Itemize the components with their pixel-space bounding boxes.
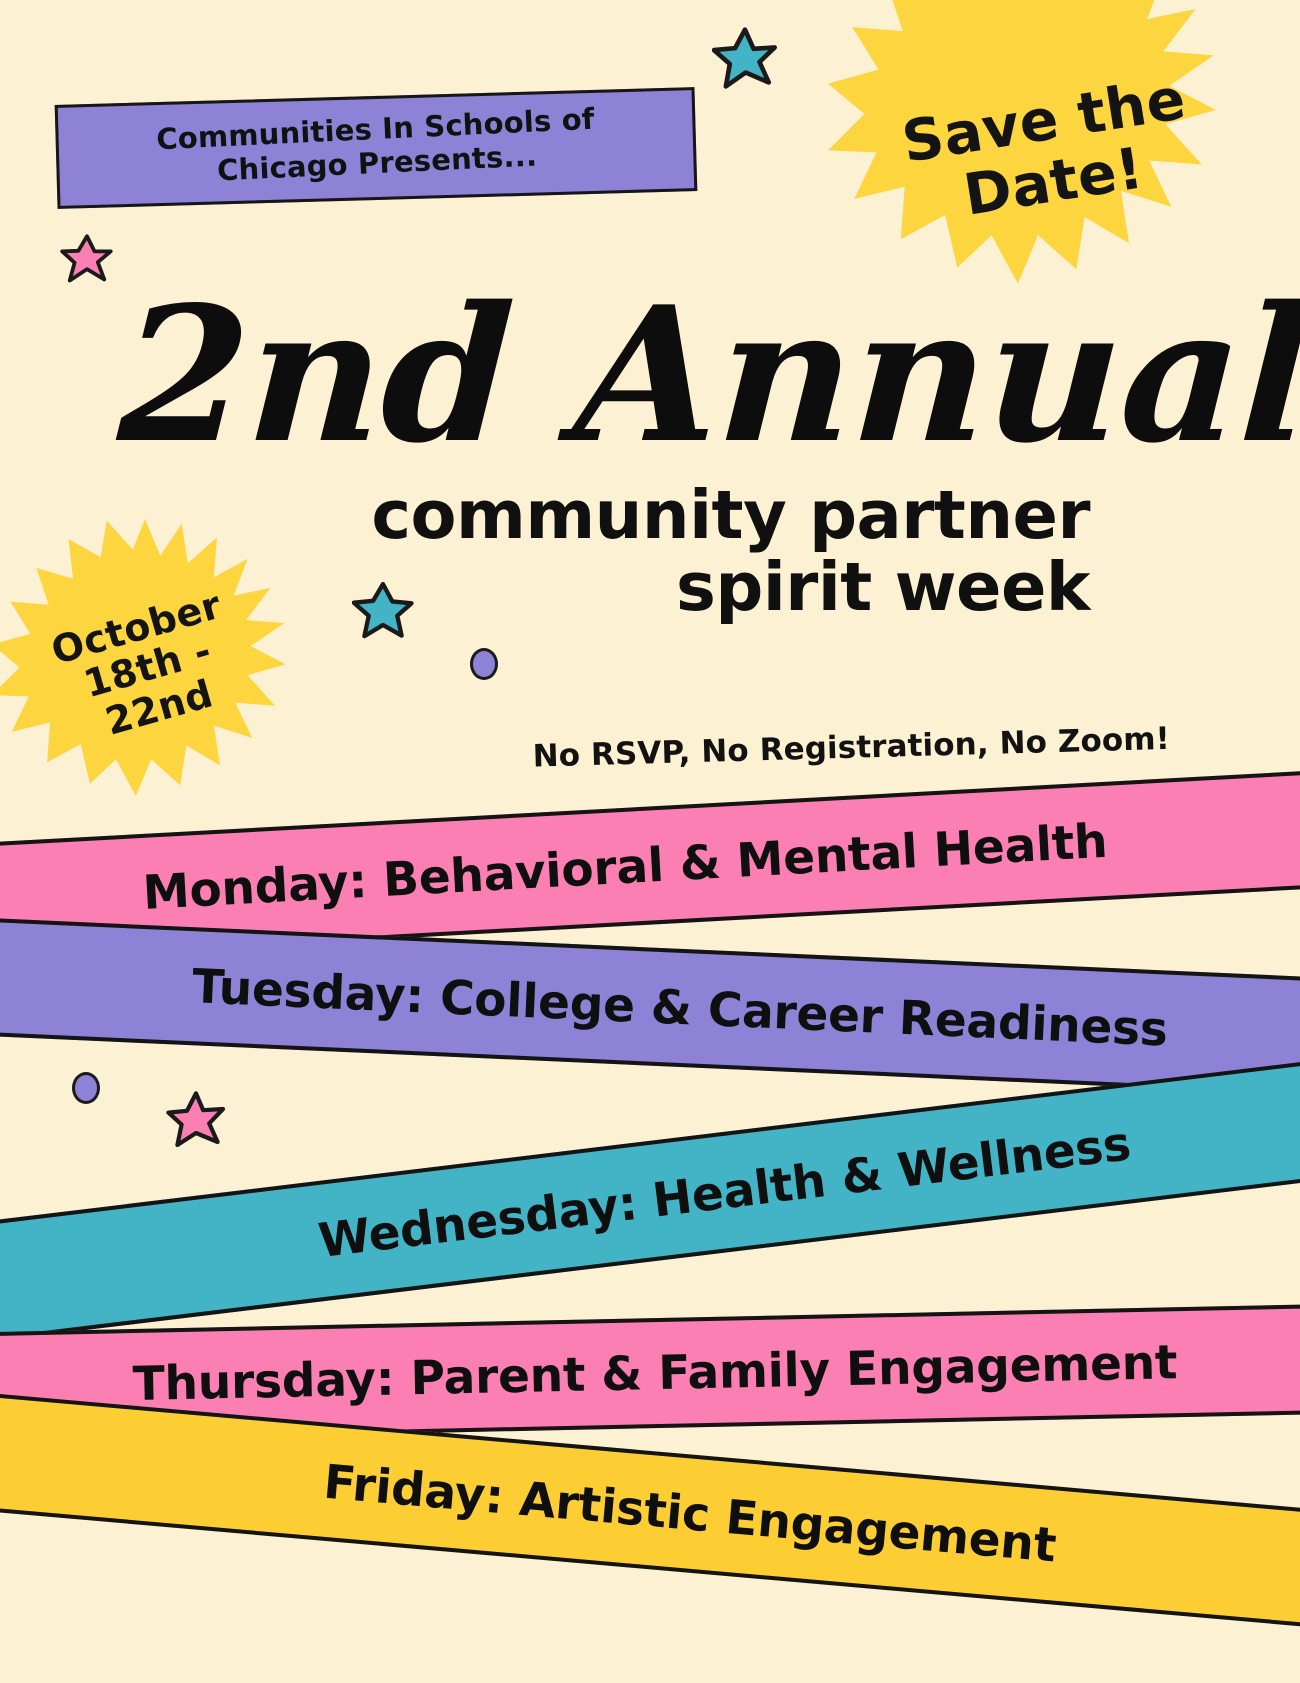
dot-purple-upper-icon	[470, 648, 498, 680]
no-rsvp-note: No RSVP, No Registration, No Zoom!	[300, 721, 1171, 781]
schedule-label-friday: Friday: Artistic Engagement	[321, 1454, 1058, 1573]
page-subtitle-line-1: community partner	[190, 480, 1090, 552]
event-dates-starburst: October 18th - 22nd	[0, 516, 298, 822]
presenter-text: Communities In Schools of Chicago Presen…	[155, 101, 597, 194]
dot-purple-lower-icon	[72, 1072, 100, 1104]
schedule-label-thursday: Thursday: Parent & Family Engagement	[132, 1335, 1178, 1412]
schedule-label-wednesday: Wednesday: Health & Wellness	[316, 1116, 1134, 1269]
schedule-label-tuesday: Tuesday: College & Career Readiness	[191, 959, 1169, 1057]
page-subtitle-line-2: spirit week	[190, 552, 1090, 624]
page-title: 2nd Annual	[115, 282, 1125, 468]
page-subtitle: community partner spirit week	[190, 480, 1090, 623]
star-teal-top-icon	[712, 26, 778, 94]
schedule-label-monday: Monday: Behavioral & Mental Health	[141, 813, 1108, 920]
star-pink-mid-icon	[166, 1090, 226, 1152]
poster-canvas: Save the Date! Communities In Schools of…	[0, 0, 1300, 1683]
presenter-banner: Communities In Schools of Chicago Presen…	[55, 87, 698, 209]
star-pink-upper-icon	[60, 232, 114, 288]
schedule-band-tuesday: Tuesday: College & Career Readiness	[0, 917, 1300, 1097]
star-teal-mid-icon	[352, 580, 414, 644]
